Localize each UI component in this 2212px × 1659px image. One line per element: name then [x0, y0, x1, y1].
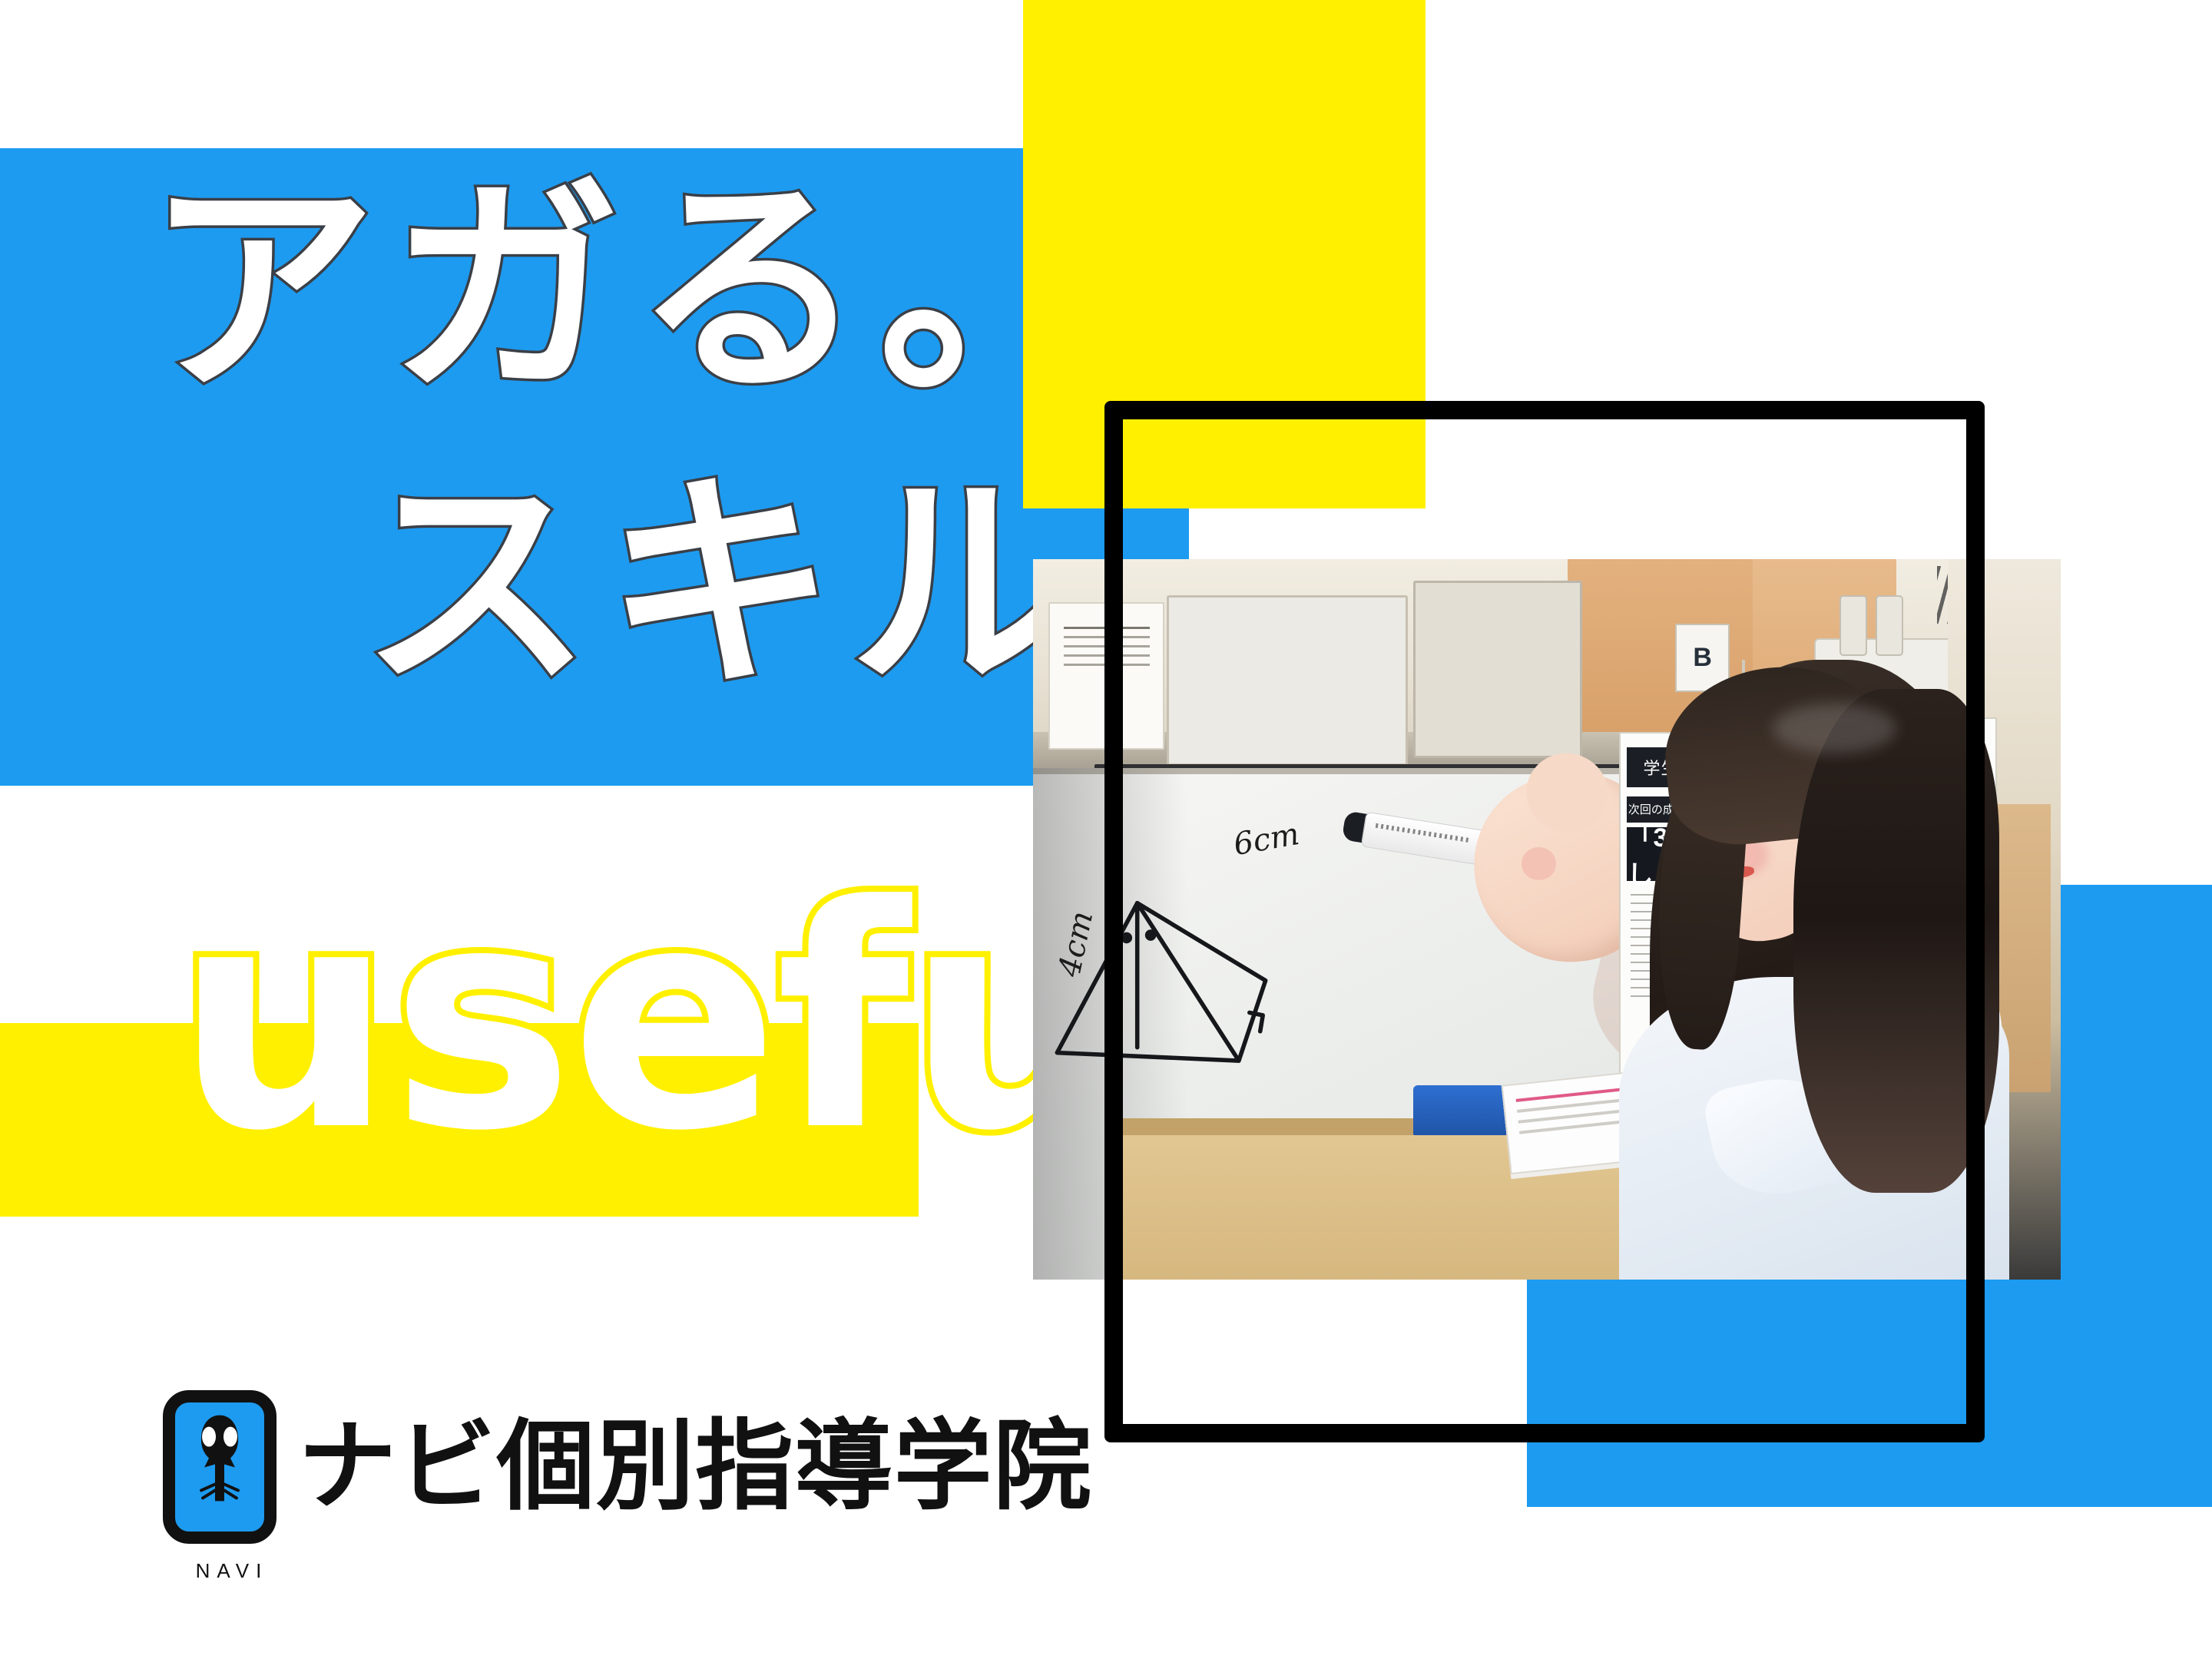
brand-name: ナビ個別指導学院: [298, 1418, 1092, 1516]
whiteboard-figure-drawing: [1038, 847, 1306, 1135]
photo-scene: B 6cm 4cm: [1033, 559, 2061, 1280]
student-hair-front: [1793, 689, 1999, 1194]
wall-notice-left: [1048, 602, 1164, 750]
mascot-glyph: [181, 1410, 258, 1511]
hair-highlight: [1773, 704, 1896, 754]
banner-canvas: アガる。 スキル useful B: [0, 0, 2212, 1659]
navi-wordmark: NAVI: [175, 1559, 289, 1583]
headline-line-2: スキル: [361, 470, 1094, 700]
navi-mascot-icon: NAVI: [163, 1390, 276, 1544]
partition-board-1: [1167, 595, 1408, 766]
fingernail: [1522, 847, 1556, 880]
plug-icon-2: [1876, 595, 1903, 656]
partition-board-2: [1413, 581, 1582, 758]
headline-line-1: アガる。: [146, 175, 1123, 406]
plug-icon-1: [1839, 595, 1867, 656]
blue-tray: [1413, 1085, 1516, 1136]
brand-lockup: NAVI ナビ個別指導学院: [163, 1390, 1092, 1544]
classroom-photo: B 6cm 4cm: [1033, 559, 2061, 1280]
